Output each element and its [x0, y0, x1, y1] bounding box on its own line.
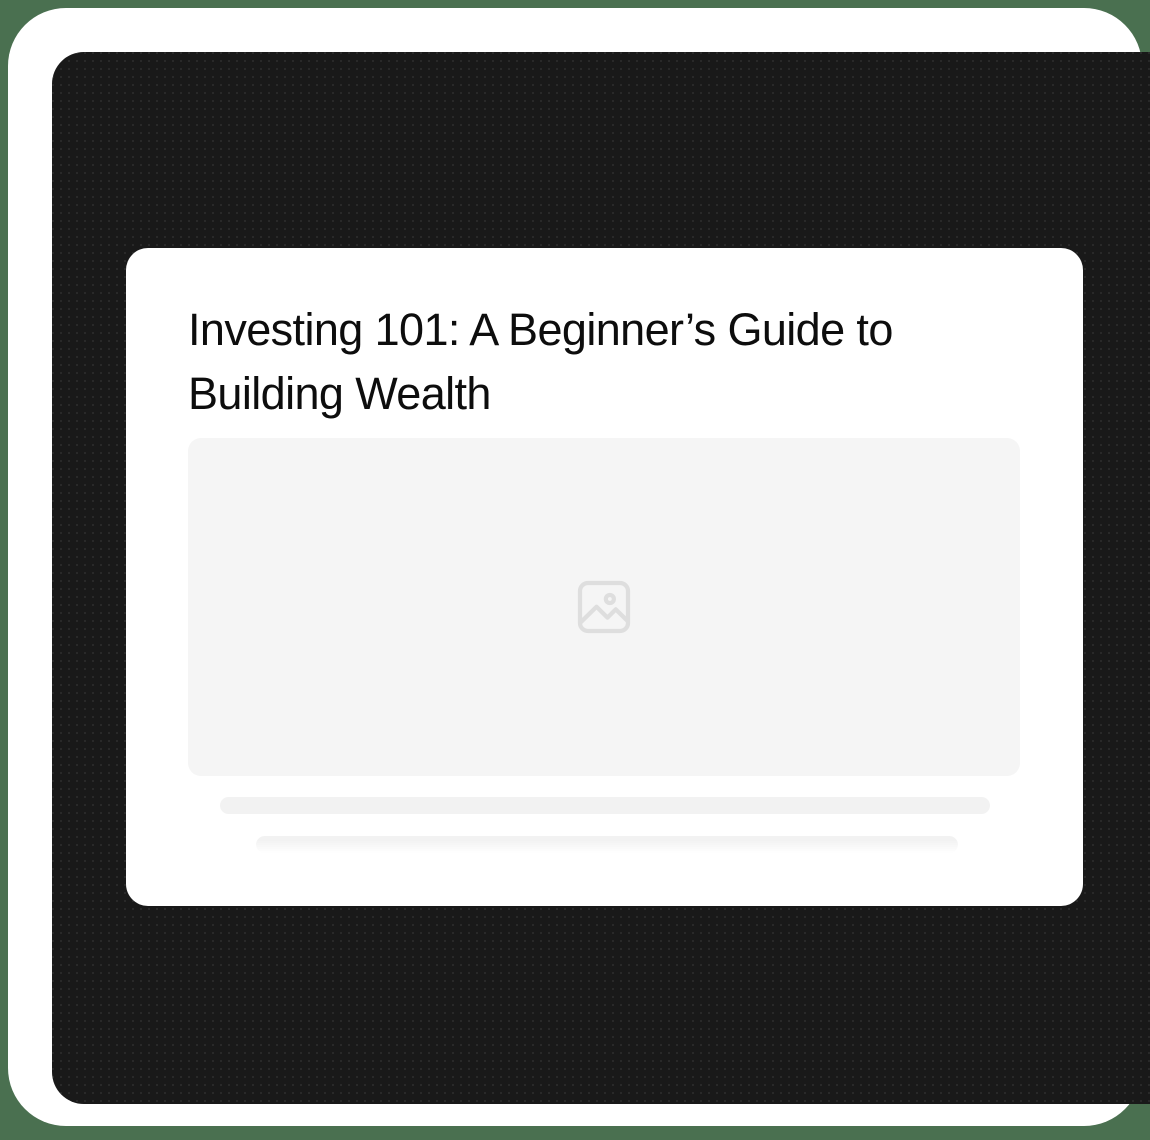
skeleton-line-1: [220, 797, 990, 814]
image-placeholder-icon: [572, 575, 636, 639]
image-placeholder[interactable]: [188, 438, 1020, 776]
skeleton-line-2: [256, 836, 958, 853]
page-title: Investing 101: A Beginner’s Guide to Bui…: [188, 298, 928, 426]
article-preview-card[interactable]: Investing 101: A Beginner’s Guide to Bui…: [126, 248, 1083, 906]
stage: Investing 101: A Beginner’s Guide to Bui…: [0, 0, 1150, 1140]
card-inner: Investing 101: A Beginner’s Guide to Bui…: [188, 248, 1083, 906]
device-frame: Investing 101: A Beginner’s Guide to Bui…: [8, 8, 1142, 1126]
